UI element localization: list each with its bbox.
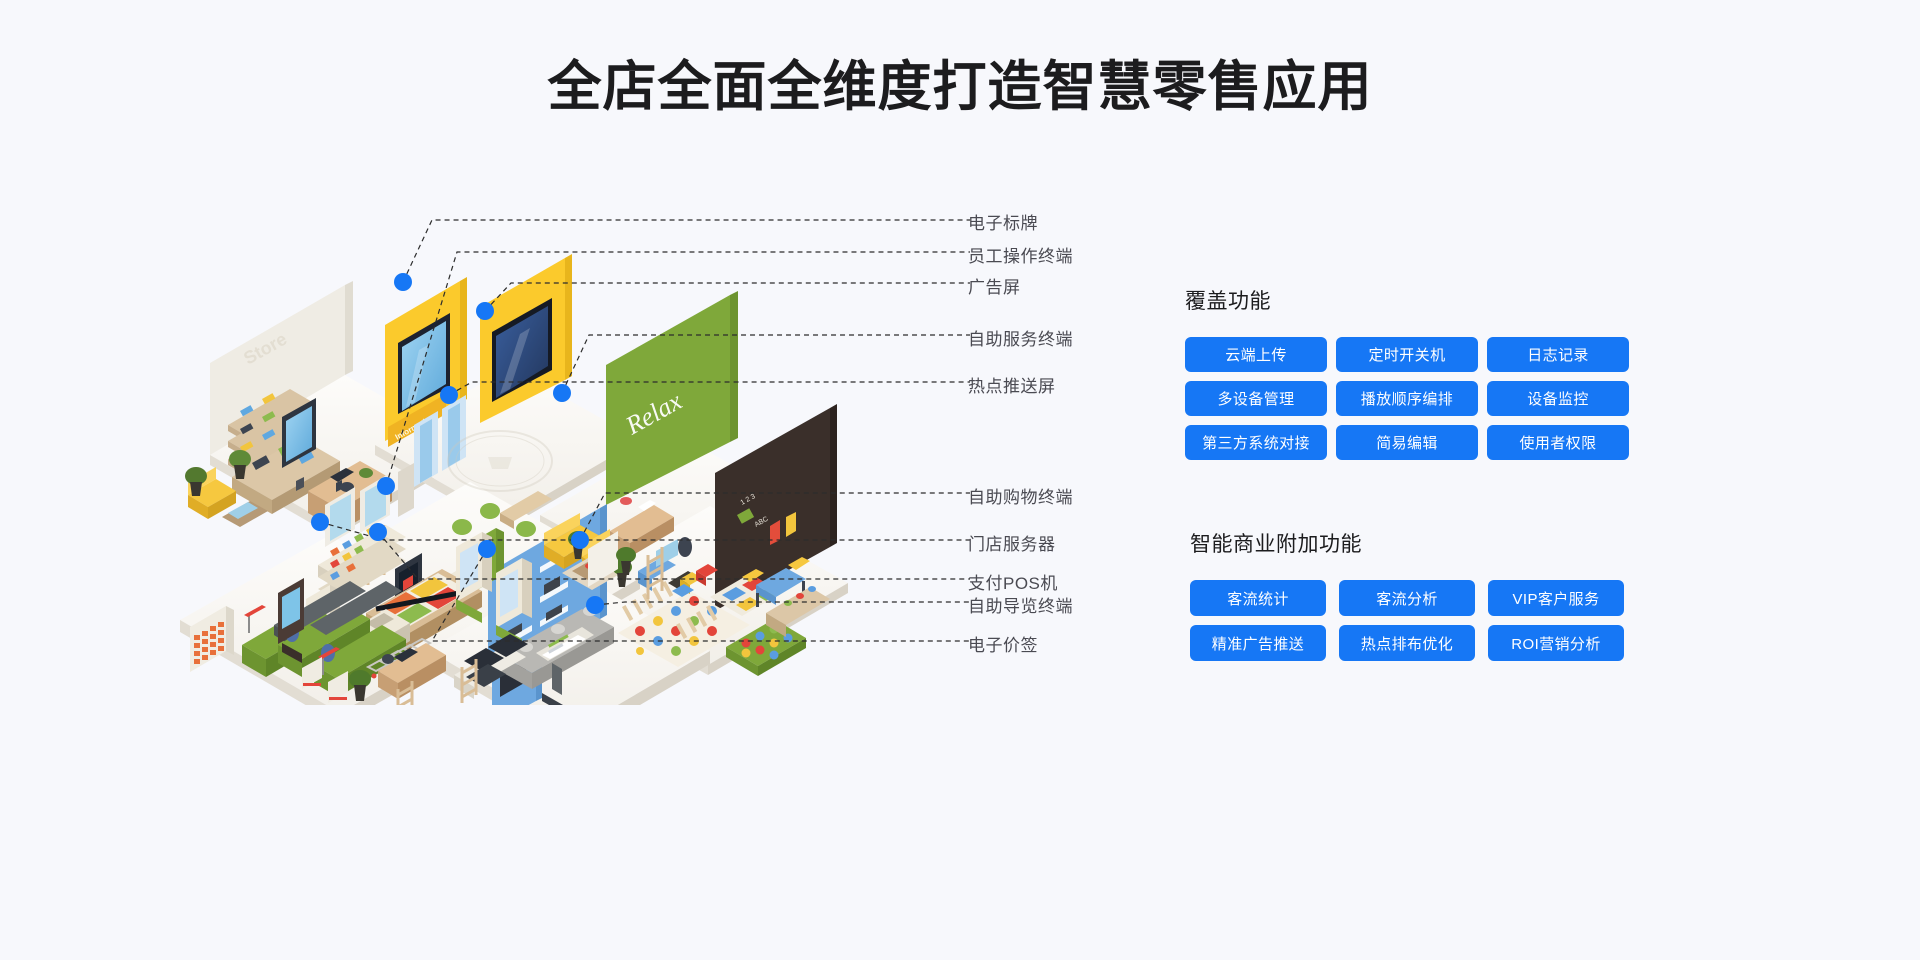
callout-label-electronic-signage[interactable]: 电子标牌 bbox=[968, 209, 1038, 234]
chip-vip-customer-service[interactable]: VIP客户服务 bbox=[1488, 580, 1624, 616]
hotspot-marker-electronic-signage bbox=[394, 273, 412, 291]
feature-group-coverage-functions: 覆盖功能 云端上传 定时开关机 日志记录 多设备管理 播放顺序编排 设备监控 第… bbox=[1185, 285, 1645, 460]
callout-label-payment-pos[interactable]: 支付POS机 bbox=[968, 569, 1058, 594]
hotspot-marker-hotspot-push-screen bbox=[440, 386, 458, 404]
store-illustration: Store Information Relax bbox=[170, 195, 970, 705]
callout-label-advertising-screen[interactable]: 广告屏 bbox=[968, 273, 1021, 298]
callout-label-self-shopping-terminal[interactable]: 自助购物终端 bbox=[968, 483, 1073, 508]
chip-device-monitoring[interactable]: 设备监控 bbox=[1487, 381, 1629, 416]
chip-simple-editing[interactable]: 简易编辑 bbox=[1336, 425, 1478, 460]
hotspot-marker-staff-operation-terminal bbox=[377, 477, 395, 495]
chip-log-record[interactable]: 日志记录 bbox=[1487, 337, 1629, 372]
chip-user-permissions[interactable]: 使用者权限 bbox=[1487, 425, 1629, 460]
callout-label-store-server[interactable]: 门店服务器 bbox=[968, 530, 1056, 555]
hotspot-marker-payment-pos bbox=[369, 523, 387, 541]
chip-targeted-ad-push[interactable]: 精准广告推送 bbox=[1190, 625, 1326, 661]
callout-label-hotspot-push-screen[interactable]: 热点推送屏 bbox=[968, 372, 1056, 397]
hotspot-marker-store-server bbox=[311, 513, 329, 531]
chip-footfall-statistics[interactable]: 客流统计 bbox=[1190, 580, 1326, 616]
hotspot-marker-self-guide-terminal bbox=[586, 596, 604, 614]
group-heading-smart-business-addon-functions: 智能商业附加功能 bbox=[1190, 528, 1645, 558]
chip-scheduled-power[interactable]: 定时开关机 bbox=[1336, 337, 1478, 372]
hotspot-marker-self-service-terminal bbox=[553, 384, 571, 402]
callout-label-staff-operation-terminal[interactable]: 员工操作终端 bbox=[968, 242, 1073, 267]
callout-label-electronic-price-tag[interactable]: 电子价签 bbox=[968, 631, 1038, 656]
group-heading-coverage-functions: 覆盖功能 bbox=[1185, 285, 1645, 315]
chip-hotspot-layout-optimization[interactable]: 热点排布优化 bbox=[1339, 625, 1475, 661]
callout-label-self-guide-terminal[interactable]: 自助导览终端 bbox=[968, 592, 1073, 617]
hotspot-marker-self-shopping-terminal bbox=[571, 531, 589, 549]
chip-playlist-scheduling[interactable]: 播放顺序编排 bbox=[1336, 381, 1478, 416]
chip-cloud-upload[interactable]: 云端上传 bbox=[1185, 337, 1327, 372]
hotspot-marker-electronic-price-tag bbox=[478, 540, 496, 558]
chip-roi-marketing-analysis[interactable]: ROI营销分析 bbox=[1488, 625, 1624, 661]
chip-third-party-integration[interactable]: 第三方系统对接 bbox=[1185, 425, 1327, 460]
feature-group-smart-business-addon-functions: 智能商业附加功能 客流统计 客流分析 VIP客户服务 精准广告推送 热点排布优化… bbox=[1190, 528, 1645, 661]
feature-panel: 覆盖功能 云端上传 定时开关机 日志记录 多设备管理 播放顺序编排 设备监控 第… bbox=[1185, 285, 1645, 661]
chip-grid-coverage-functions: 云端上传 定时开关机 日志记录 多设备管理 播放顺序编排 设备监控 第三方系统对… bbox=[1185, 337, 1645, 460]
page-title: 全店全面全维度打造智慧零售应用 bbox=[0, 58, 1920, 117]
chip-multi-device-manage[interactable]: 多设备管理 bbox=[1185, 381, 1327, 416]
callout-label-self-service-terminal[interactable]: 自助服务终端 bbox=[968, 325, 1073, 350]
hotspot-marker-advertising-screen bbox=[476, 302, 494, 320]
chip-footfall-analysis[interactable]: 客流分析 bbox=[1339, 580, 1475, 616]
chip-grid-smart-business-addon-functions: 客流统计 客流分析 VIP客户服务 精准广告推送 热点排布优化 ROI营销分析 bbox=[1190, 580, 1645, 661]
